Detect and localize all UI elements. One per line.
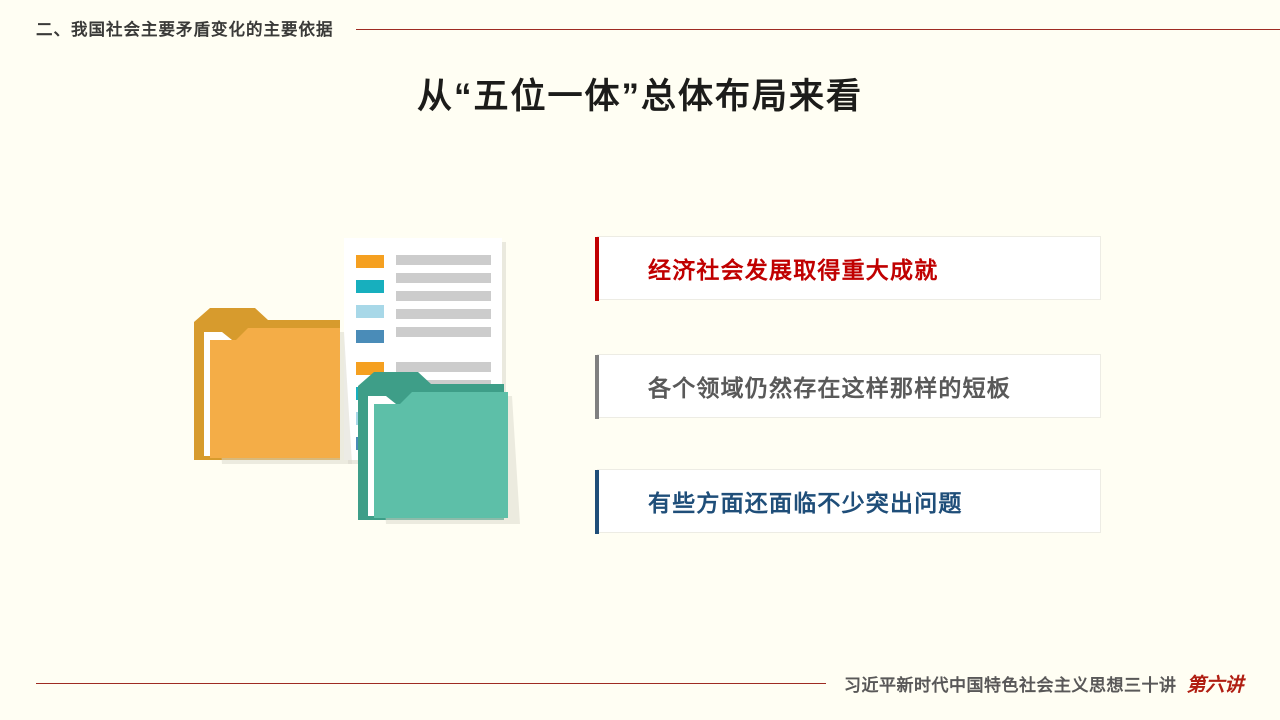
folders-document-illustration (180, 228, 570, 540)
callout-accent-bar (595, 355, 599, 419)
document-tag-orange (356, 255, 384, 268)
callout-list: 经济社会发展取得重大成就 各个领域仍然存在这样那样的短板 有些方面还面临不少突出… (597, 236, 1107, 536)
document-line (396, 309, 491, 319)
orange-folder-front (210, 328, 340, 458)
callout-label: 各个领域仍然存在这样那样的短板 (648, 369, 1011, 403)
page-title: 从“五位一体”总体布局来看 (0, 68, 1280, 119)
document-line (396, 273, 491, 283)
illustration-svg (180, 228, 570, 540)
document-tag-steelblue (356, 330, 384, 343)
header-divider-line (356, 29, 1280, 30)
callout-item[interactable]: 经济社会发展取得重大成就 (597, 236, 1101, 300)
document-tag-teal (356, 280, 384, 293)
callout-accent-bar (595, 237, 599, 301)
callout-label: 经济社会发展取得重大成就 (648, 251, 938, 285)
document-line (396, 255, 491, 265)
document-tag-lightblue (356, 305, 384, 318)
slide-header: 二、我国社会主要矛盾变化的主要依据 (0, 13, 1280, 43)
teal-folder-front (374, 392, 508, 518)
footer-divider-line (36, 683, 826, 684)
section-title: 二、我国社会主要矛盾变化的主要依据 (36, 16, 334, 40)
callout-item[interactable]: 各个领域仍然存在这样那样的短板 (597, 354, 1101, 418)
document-line (396, 362, 491, 372)
callout-label: 有些方面还面临不少突出问题 (648, 484, 963, 518)
footer-lecture-seal: 第六讲 (1187, 670, 1244, 697)
document-line (396, 291, 491, 301)
callout-accent-bar (595, 470, 599, 534)
slide-footer: 习近平新时代中国特色社会主义思想三十讲 第六讲 (0, 666, 1280, 700)
document-line (396, 327, 491, 337)
footer-series-title: 习近平新时代中国特色社会主义思想三十讲 (844, 671, 1177, 696)
callout-item[interactable]: 有些方面还面临不少突出问题 (597, 469, 1101, 533)
slide-root: 二、我国社会主要矛盾变化的主要依据 从“五位一体”总体布局来看 (0, 0, 1280, 720)
